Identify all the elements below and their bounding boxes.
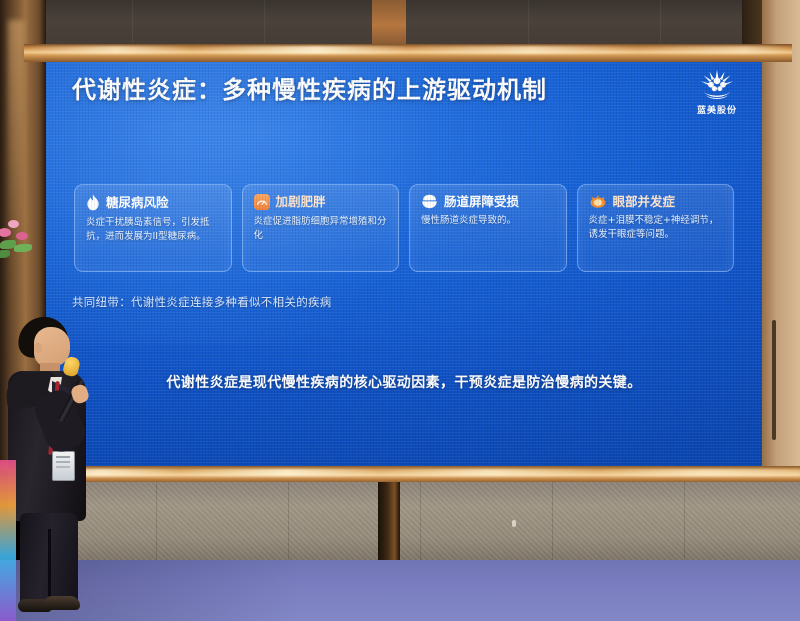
card-body: 炎症促进脂肪细胞异常增殖和分化 xyxy=(254,215,388,244)
stage-panel-knob xyxy=(512,520,516,527)
weight-scale-icon xyxy=(254,194,270,210)
card-body: 慢性肠道炎症导致的。 xyxy=(421,214,555,228)
flower-petal xyxy=(0,228,11,237)
blueberry-plant-logo-icon xyxy=(698,68,736,102)
presenter-shoe-right xyxy=(44,596,80,610)
weight-scale-glyph xyxy=(256,196,268,208)
card-eye-complications: 眼部并发症 炎症+泪膜不稳定+神经调节，诱发干眼症等问题。 xyxy=(577,184,735,272)
card-body: 炎症+泪膜不稳定+神经调节，诱发干眼症等问题。 xyxy=(589,214,723,243)
stage-base-texture xyxy=(24,482,800,562)
card-row: 糖尿病风险 炎症干扰胰岛素信号，引发抵抗，进而发展为II型糖尿病。 加剧肥胖 炎… xyxy=(74,184,734,284)
eye-icon xyxy=(589,194,607,209)
screen-top-copper-trim xyxy=(24,44,792,62)
card-gut-barrier-damage: 肠道屏障受损 慢性肠道炎症导致的。 xyxy=(409,184,567,272)
brand-logo: 蓝美股份 xyxy=(686,68,748,116)
right-wall-cable xyxy=(772,320,776,440)
presenter-leg-separation xyxy=(48,529,51,601)
conclusion-text: 代谢性炎症是现代慢性疾病的核心驱动因素，干预炎症是防治慢病的关键。 xyxy=(46,372,762,392)
upper-wall-copper-column xyxy=(372,0,406,50)
brand-name: 蓝美股份 xyxy=(697,103,737,116)
page-title: 代谢性炎症：多种慢性疾病的上游驱动机制 xyxy=(72,70,547,105)
stomach-bowl-icon xyxy=(421,194,438,209)
card-title: 糖尿病风险 xyxy=(106,196,169,210)
flower-petal xyxy=(8,220,19,228)
card-title: 加剧肥胖 xyxy=(276,195,326,209)
presenter xyxy=(0,315,112,621)
flower-leaf xyxy=(14,244,32,252)
common-thread-text: 共同纽带：代谢性炎症连接多种看似不相关的疾病 xyxy=(72,294,332,310)
card-worsens-obesity: 加剧肥胖 炎症促进脂肪细胞异常增殖和分化 xyxy=(242,184,400,272)
led-screen-slide: 代谢性炎症：多种慢性疾病的上游驱动机制 xyxy=(46,62,762,466)
stage-flower-arrangement xyxy=(0,210,36,270)
flame-icon xyxy=(86,194,100,211)
card-header: 加剧肥胖 xyxy=(254,194,388,210)
stage-backdrop-gap xyxy=(378,482,400,562)
flower-petal xyxy=(16,232,28,240)
decorative-color-banner xyxy=(0,460,16,621)
card-title: 肠道屏障受损 xyxy=(444,195,519,209)
card-header: 眼部并发症 xyxy=(589,194,723,209)
card-header: 肠道屏障受损 xyxy=(421,194,555,209)
card-title: 眼部并发症 xyxy=(613,195,676,209)
card-header: 糖尿病风险 xyxy=(86,194,220,211)
presenter-name-badge xyxy=(52,451,75,481)
card-body: 炎症干扰胰岛素信号，引发抵抗，进而发展为II型糖尿病。 xyxy=(86,216,220,245)
flower-leaf xyxy=(0,250,10,258)
conference-stage-photo: 代谢性炎症：多种慢性疾病的上游驱动机制 xyxy=(0,0,800,621)
card-diabetes-risk: 糖尿病风险 炎症干扰胰岛素信号，引发抵抗，进而发展为II型糖尿病。 xyxy=(74,184,232,272)
presenter-ear xyxy=(34,343,42,353)
stage-base-panels xyxy=(24,482,800,562)
